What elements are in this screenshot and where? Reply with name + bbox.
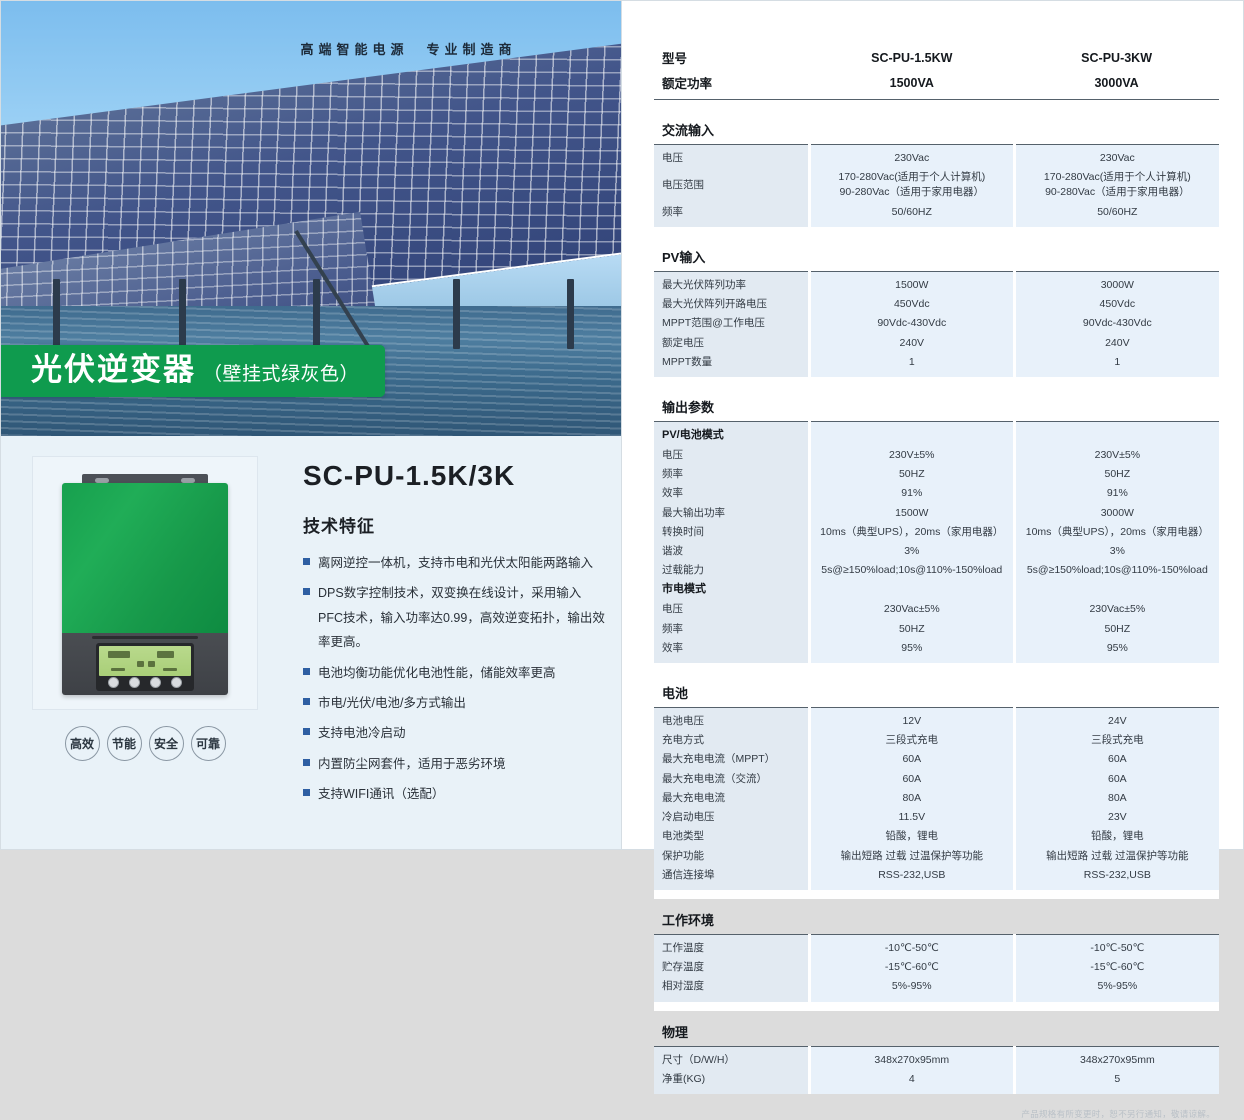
spec-row-value-model-2: 50HZ	[1014, 620, 1219, 639]
support-post	[313, 279, 320, 349]
table-row: 相对湿度5%-95%5%-95%	[654, 977, 1219, 1001]
spec-row-value-model-1: 90Vdc-430Vdc	[809, 314, 1014, 333]
table-row: 市电模式	[654, 580, 1219, 600]
spec-row-value-model-2: 240V	[1014, 334, 1219, 353]
spec-row-value-model-2: 230Vac	[1014, 145, 1219, 169]
spec-row-value-model-1: 170-280Vac(适用于个人计算机)90-280Vac（适用于家用电器）	[809, 168, 1014, 202]
product-image-column: 高效 节能 安全 可靠	[1, 454, 289, 812]
spec-header-row: 额定功率1500VA3000VA	[654, 70, 1219, 100]
spec-row-value-model-2: 23V	[1014, 808, 1219, 827]
device-button	[150, 677, 161, 688]
table-row: 净重(KG)45	[654, 1070, 1219, 1094]
lcd-segment	[111, 668, 125, 671]
badge-safety: 安全	[149, 726, 184, 761]
feature-text: 市电/光伏/电池/多方式输出	[318, 691, 466, 715]
spec-row-value-model-2: 5s@≥150%load;10s@110%-150%load	[1014, 561, 1219, 580]
list-item: 支持WIFI通讯（选配）	[303, 782, 605, 806]
lcd-icon	[137, 661, 144, 667]
product-title-subtitle: （壁挂式绿灰色）	[203, 359, 359, 386]
spec-row-label: 频率	[654, 465, 809, 484]
table-row: 过载能力5s@≥150%load;10s@110%-150%load5s@≥15…	[654, 561, 1219, 580]
support-post	[179, 279, 186, 349]
spec-row-value-model-1: 4	[809, 1070, 1014, 1094]
square-bullet-icon	[303, 558, 310, 565]
company-tagline: 高端智能电源 专业制造商	[1, 39, 621, 58]
device-button-row	[99, 676, 191, 689]
spec-row-label: 电压	[654, 446, 809, 465]
feature-text: DPS数字控制技术，双变换在线设计，采用输入PFC技术，输入功率达0.99，高效…	[318, 581, 605, 654]
inverter-device	[62, 483, 228, 695]
list-item: 电池均衡功能优化电池性能，储能效率更高	[303, 661, 605, 685]
spec-row-label: 谐波	[654, 542, 809, 561]
feature-text: 离网逆控一体机，支持市电和光伏太阳能两路输入	[318, 551, 593, 575]
model-name-heading: SC-PU-1.5K/3K	[303, 460, 605, 492]
section-title: 物理	[654, 1011, 1219, 1047]
spec-row-label: 净重(KG)	[654, 1070, 809, 1094]
list-item: DPS数字控制技术，双变换在线设计，采用输入PFC技术，输入功率达0.99，高效…	[303, 581, 605, 654]
feature-badges: 高效 节能 安全 可靠	[65, 726, 226, 761]
device-button	[171, 677, 182, 688]
datasheet-page: 高端智能电源 专业制造商 光伏逆变器 （壁挂式绿灰色）	[0, 0, 1244, 850]
features-column: SC-PU-1.5K/3K 技术特征 离网逆控一体机，支持市电和光伏太阳能两路输…	[289, 454, 621, 812]
spec-row-label: 电压	[654, 145, 809, 169]
spec-row-label: 电池类型	[654, 827, 809, 846]
spec-row-label: 过载能力	[654, 561, 809, 580]
table-row: 尺寸（D/W/H）348x270x95mm348x270x95mm	[654, 1046, 1219, 1070]
spec-row-label: 最大光伏阵列开路电压	[654, 295, 809, 314]
badge-energy-saving: 节能	[107, 726, 142, 761]
table-row: 充电方式三段式充电三段式充电	[654, 731, 1219, 750]
spec-header-model-1: 1500VA	[809, 70, 1014, 100]
spec-section-header: 输出参数	[654, 386, 1219, 422]
spec-row-value-model-2: -10℃-50℃	[1014, 935, 1219, 959]
spec-section-header: 电池	[654, 672, 1219, 708]
spacer-row	[654, 1002, 1219, 1011]
table-row: 效率91%91%	[654, 484, 1219, 503]
spec-row-label: 通信连接埠	[654, 866, 809, 890]
spec-row-value-model-1	[809, 421, 1014, 445]
list-item: 离网逆控一体机，支持市电和光伏太阳能两路输入	[303, 551, 605, 575]
spec-row-value-model-1: 铅酸，锂电	[809, 827, 1014, 846]
spec-header-model-2: SC-PU-3KW	[1014, 45, 1219, 70]
spec-row-label: PV/电池模式	[654, 421, 809, 445]
spec-row-value-model-2: 450Vdc	[1014, 295, 1219, 314]
spec-header-model-1: SC-PU-1.5KW	[809, 45, 1014, 70]
spec-section-header: 交流输入	[654, 109, 1219, 145]
spec-row-label: 效率	[654, 484, 809, 503]
spec-row-label: 电压	[654, 600, 809, 619]
square-bullet-icon	[303, 789, 310, 796]
spec-row-label: 最大充电电流（交流）	[654, 770, 809, 789]
square-bullet-icon	[303, 588, 310, 595]
spec-row-label: MPPT数量	[654, 353, 809, 377]
spacer-row	[654, 663, 1219, 672]
spec-row-label: 相对湿度	[654, 977, 809, 1001]
spec-row-label: 最大光伏阵列功率	[654, 271, 809, 295]
spec-row-value-model-1: 348x270x95mm	[809, 1046, 1014, 1070]
table-row: MPPT范围@工作电压90Vdc-430Vdc90Vdc-430Vdc	[654, 314, 1219, 333]
spec-row-label: 电压范围	[654, 168, 809, 202]
spec-row-value-model-1: 91%	[809, 484, 1014, 503]
table-row: 额定电压240V240V	[654, 334, 1219, 353]
spec-row-value-model-2: 3%	[1014, 542, 1219, 561]
spec-row-value-model-2: 95%	[1014, 639, 1219, 663]
spec-row-value-model-1: -10℃-50℃	[809, 935, 1014, 959]
spec-row-value-model-2: 230Vac±5%	[1014, 600, 1219, 619]
spec-row-value-model-1: 230V±5%	[809, 446, 1014, 465]
table-row: 通信连接埠RSS-232,USBRSS-232,USB	[654, 866, 1219, 890]
device-vent-slot	[92, 636, 198, 639]
table-row: 电压230Vac230Vac	[654, 145, 1219, 169]
spec-row-label: 冷启动电压	[654, 808, 809, 827]
product-title-banner: 光伏逆变器 （壁挂式绿灰色）	[1, 345, 385, 397]
spec-row-value-model-2	[1014, 421, 1219, 445]
device-green-housing	[62, 483, 228, 633]
spec-row-label: MPPT范围@工作电压	[654, 314, 809, 333]
table-row: 工作温度-10℃-50℃-10℃-50℃	[654, 935, 1219, 959]
spec-row-value-model-1: 230Vac	[809, 145, 1014, 169]
spec-row-label: 电池电压	[654, 708, 809, 732]
lcd-display	[99, 646, 191, 676]
spec-row-value-model-2: 90Vdc-430Vdc	[1014, 314, 1219, 333]
spec-row-label: 充电方式	[654, 731, 809, 750]
feature-text: 支持WIFI通讯（选配）	[318, 782, 444, 806]
spec-row-value-model-2: 170-280Vac(适用于个人计算机)90-280Vac（适用于家用电器）	[1014, 168, 1219, 202]
table-row: 最大充电电流（交流）60A60A	[654, 770, 1219, 789]
spec-row-value-model-2: 230V±5%	[1014, 446, 1219, 465]
list-item: 内置防尘网套件，适用于恶劣环境	[303, 752, 605, 776]
spec-row-label: 市电模式	[654, 580, 809, 600]
lcd-segment	[163, 668, 177, 671]
spacer-row	[654, 377, 1219, 386]
section-title: PV输入	[654, 236, 1219, 272]
spec-row-value-model-1: 10ms（典型UPS），20ms（家用电器）	[809, 523, 1014, 542]
product-photo	[32, 456, 258, 710]
spec-row-value-model-2: 60A	[1014, 750, 1219, 769]
spec-row-value-model-1: 3%	[809, 542, 1014, 561]
spec-row-label: 频率	[654, 203, 809, 227]
spec-row-value-model-1: 95%	[809, 639, 1014, 663]
table-row: 贮存温度-15℃-60℃-15℃-60℃	[654, 958, 1219, 977]
spec-row-value-model-2: 91%	[1014, 484, 1219, 503]
spec-row-value-model-2: -15℃-60℃	[1014, 958, 1219, 977]
spec-row-label: 效率	[654, 639, 809, 663]
table-row: 电池类型铅酸，锂电铅酸，锂电	[654, 827, 1219, 846]
lcd-segment	[108, 651, 130, 658]
table-row: 转换时间10ms（典型UPS），20ms（家用电器）10ms（典型UPS），20…	[654, 523, 1219, 542]
table-row: 电压范围170-280Vac(适用于个人计算机)90-280Vac（适用于家用电…	[654, 168, 1219, 202]
section-title: 交流输入	[654, 109, 1219, 145]
section-title: 电池	[654, 672, 1219, 708]
features-list: 离网逆控一体机，支持市电和光伏太阳能两路输入 DPS数字控制技术，双变换在线设计…	[303, 551, 605, 806]
spacer-row	[654, 100, 1219, 110]
spec-row-value-model-1: 三段式充电	[809, 731, 1014, 750]
specification-disclaimer-note: 产品规格有所变更时，恕不另行通知，敬请谅解。	[654, 1108, 1219, 1120]
spec-row-label: 保护功能	[654, 847, 809, 866]
spec-section-header: 工作环境	[654, 899, 1219, 935]
device-button	[129, 677, 140, 688]
spec-section-header: PV输入	[654, 236, 1219, 272]
spec-row-label: 额定电压	[654, 334, 809, 353]
spec-row-value-model-1: 60A	[809, 770, 1014, 789]
table-row: 电压230V±5%230V±5%	[654, 446, 1219, 465]
left-content-area: 高效 节能 安全 可靠 SC-PU-1.5K/3K 技术特征 离网逆控一体机，支…	[1, 436, 621, 812]
spec-row-value-model-1: 60A	[809, 750, 1014, 769]
spec-row-value-model-1: 1	[809, 353, 1014, 377]
table-row: 最大充电电流（MPPT）60A60A	[654, 750, 1219, 769]
support-post	[53, 279, 60, 349]
spec-row-value-model-1: 5s@≥150%load;10s@110%-150%load	[809, 561, 1014, 580]
table-row: 最大输出功率1500W3000W	[654, 504, 1219, 523]
section-title: 工作环境	[654, 899, 1219, 935]
support-post	[453, 279, 460, 349]
spec-row-value-model-1: 50/60HZ	[809, 203, 1014, 227]
badge-reliability: 可靠	[191, 726, 226, 761]
spec-row-label: 最大输出功率	[654, 504, 809, 523]
square-bullet-icon	[303, 668, 310, 675]
left-panel: 高端智能电源 专业制造商 光伏逆变器 （壁挂式绿灰色）	[0, 0, 622, 850]
device-control-panel	[96, 643, 194, 691]
table-row: 最大光伏阵列功率1500W3000W	[654, 271, 1219, 295]
spec-row-value-model-1: 50HZ	[809, 620, 1014, 639]
spec-row-value-model-2: 80A	[1014, 789, 1219, 808]
spec-row-label: 贮存温度	[654, 958, 809, 977]
product-title-main: 光伏逆变器	[31, 354, 196, 385]
spec-row-value-model-2: 铅酸，锂电	[1014, 827, 1219, 846]
spec-row-value-model-2: 24V	[1014, 708, 1219, 732]
list-item: 支持电池冷启动	[303, 721, 605, 745]
square-bullet-icon	[303, 728, 310, 735]
spec-row-value-model-1: 230Vac±5%	[809, 600, 1014, 619]
table-row: PV/电池模式	[654, 421, 1219, 445]
spec-row-value-model-2: 10ms（典型UPS），20ms（家用电器）	[1014, 523, 1219, 542]
spec-row-value-model-2: 50HZ	[1014, 465, 1219, 484]
spec-row-value-model-1: 12V	[809, 708, 1014, 732]
lcd-icon	[148, 661, 155, 667]
spec-row-value-model-2: 3000W	[1014, 504, 1219, 523]
feature-text: 电池均衡功能优化电池性能，储能效率更高	[318, 661, 556, 685]
table-row: 电池电压12V24V	[654, 708, 1219, 732]
spec-row-value-model-1: -15℃-60℃	[809, 958, 1014, 977]
list-item: 市电/光伏/电池/多方式输出	[303, 691, 605, 715]
spec-row-value-model-2: 5	[1014, 1070, 1219, 1094]
table-row: MPPT数量11	[654, 353, 1219, 377]
spec-row-value-model-2: 1	[1014, 353, 1219, 377]
lcd-segment	[157, 651, 174, 658]
specifications-panel: 型号SC-PU-1.5KWSC-PU-3KW额定功率1500VA3000VA交流…	[622, 0, 1244, 850]
spec-row-value-model-1: RSS-232,USB	[809, 866, 1014, 890]
spec-row-label: 尺寸（D/W/H）	[654, 1046, 809, 1070]
specifications-table: 型号SC-PU-1.5KWSC-PU-3KW额定功率1500VA3000VA交流…	[654, 45, 1219, 1094]
spec-row-value-model-1: 1500W	[809, 504, 1014, 523]
spec-header-label: 型号	[654, 45, 809, 70]
section-title: 输出参数	[654, 386, 1219, 422]
table-row: 最大充电电流80A80A	[654, 789, 1219, 808]
spec-row-value-model-2: 60A	[1014, 770, 1219, 789]
spec-row-value-model-1: 5%-95%	[809, 977, 1014, 1001]
support-post	[567, 279, 574, 349]
spec-header-model-2: 3000VA	[1014, 70, 1219, 100]
device-dark-housing	[62, 633, 228, 695]
table-row: 效率95%95%	[654, 639, 1219, 663]
spec-row-value-model-2: 50/60HZ	[1014, 203, 1219, 227]
spec-row-value-model-1: 1500W	[809, 271, 1014, 295]
spec-row-value-model-1: 输出短路 过载 过温保护等功能	[809, 847, 1014, 866]
square-bullet-icon	[303, 698, 310, 705]
spec-row-value-model-1: 50HZ	[809, 465, 1014, 484]
spec-row-label: 频率	[654, 620, 809, 639]
feature-text: 支持电池冷启动	[318, 721, 406, 745]
spec-row-value-model-1: 11.5V	[809, 808, 1014, 827]
device-button	[108, 677, 119, 688]
spec-row-label: 工作温度	[654, 935, 809, 959]
spacer-row	[654, 890, 1219, 899]
spec-row-value-model-2: RSS-232,USB	[1014, 866, 1219, 890]
feature-text: 内置防尘网套件，适用于恶劣环境	[318, 752, 506, 776]
square-bullet-icon	[303, 759, 310, 766]
spec-row-value-model-1: 240V	[809, 334, 1014, 353]
table-row: 电压230Vac±5%230Vac±5%	[654, 600, 1219, 619]
spec-section-header: 物理	[654, 1011, 1219, 1047]
spec-row-value-model-2: 3000W	[1014, 271, 1219, 295]
table-row: 频率50HZ50HZ	[654, 465, 1219, 484]
table-row: 保护功能输出短路 过载 过温保护等功能输出短路 过载 过温保护等功能	[654, 847, 1219, 866]
spec-row-value-model-1: 80A	[809, 789, 1014, 808]
spec-row-value-model-2	[1014, 580, 1219, 600]
badge-efficiency: 高效	[65, 726, 100, 761]
table-row: 谐波3%3%	[654, 542, 1219, 561]
spec-header-label: 额定功率	[654, 70, 809, 100]
spec-row-value-model-2: 三段式充电	[1014, 731, 1219, 750]
spec-row-value-model-2: 5%-95%	[1014, 977, 1219, 1001]
spec-header-row: 型号SC-PU-1.5KWSC-PU-3KW	[654, 45, 1219, 70]
features-heading: 技术特征	[303, 512, 605, 537]
table-row: 频率50HZ50HZ	[654, 620, 1219, 639]
table-row: 频率50/60HZ50/60HZ	[654, 203, 1219, 227]
spec-row-label: 转换时间	[654, 523, 809, 542]
spec-row-value-model-1	[809, 580, 1014, 600]
spec-row-value-model-2: 348x270x95mm	[1014, 1046, 1219, 1070]
spec-row-value-model-2: 输出短路 过载 过温保护等功能	[1014, 847, 1219, 866]
spec-row-label: 最大充电电流（MPPT）	[654, 750, 809, 769]
spec-row-label: 最大充电电流	[654, 789, 809, 808]
table-row: 最大光伏阵列开路电压450Vdc450Vdc	[654, 295, 1219, 314]
table-row: 冷启动电压11.5V23V	[654, 808, 1219, 827]
spec-row-value-model-1: 450Vdc	[809, 295, 1014, 314]
spacer-row	[654, 227, 1219, 236]
